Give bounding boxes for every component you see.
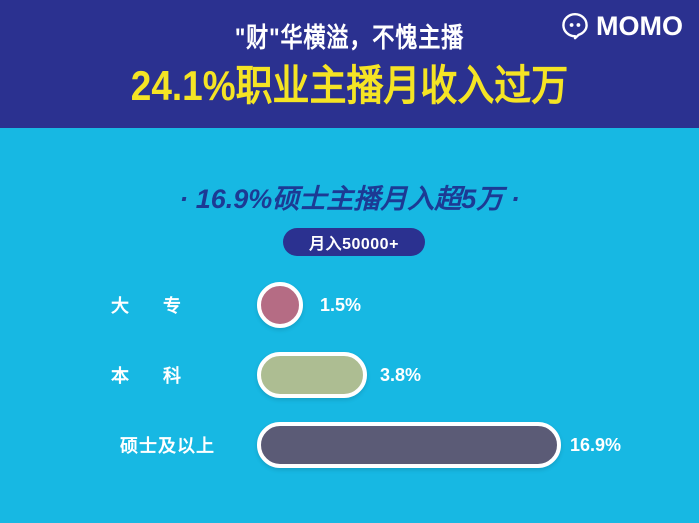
income-badge: 月入50000+ xyxy=(283,228,425,256)
bar-track xyxy=(257,352,367,398)
bar-value-label: 1.5% xyxy=(320,282,361,328)
header-subtitle: "财"华横溢，不愧主播 xyxy=(63,21,636,55)
bar-value-label: 3.8% xyxy=(380,352,421,398)
bar-fill xyxy=(257,422,561,468)
momo-logo: MOMO xyxy=(561,9,683,43)
bar-category-label: 本科 xyxy=(60,352,215,398)
bar-track xyxy=(257,282,303,328)
header-title: 24.1%职业主播月收入过万 xyxy=(42,60,657,112)
bar-track xyxy=(257,422,561,468)
bar-fill xyxy=(257,282,303,328)
bar-value-label: 16.9% xyxy=(570,422,621,468)
chart-row: 大专 1.5% xyxy=(0,282,699,328)
header-banner: "财"华横溢，不愧主播 24.1%职业主播月收入过万 MOMO xyxy=(0,0,699,128)
chart-row: 本科 3.8% xyxy=(0,352,699,398)
chart-row: 硕士及以上 16.9% xyxy=(0,422,699,468)
education-income-bar-chart: 大专 1.5% 本科 3.8% 硕士及以上 16.9% xyxy=(0,282,699,487)
bar-category-label: 大专 xyxy=(60,282,215,328)
section-heading: · 16.9%硕士主播月入超5万 · xyxy=(0,181,699,217)
bar-fill xyxy=(257,352,367,398)
bar-category-label: 硕士及以上 xyxy=(60,422,215,468)
momo-speech-bubble-icon xyxy=(561,12,589,40)
infographic-poster: "财"华横溢，不愧主播 24.1%职业主播月收入过万 MOMO · 16.9%硕… xyxy=(0,0,699,523)
momo-logo-text: MOMO xyxy=(596,12,683,40)
